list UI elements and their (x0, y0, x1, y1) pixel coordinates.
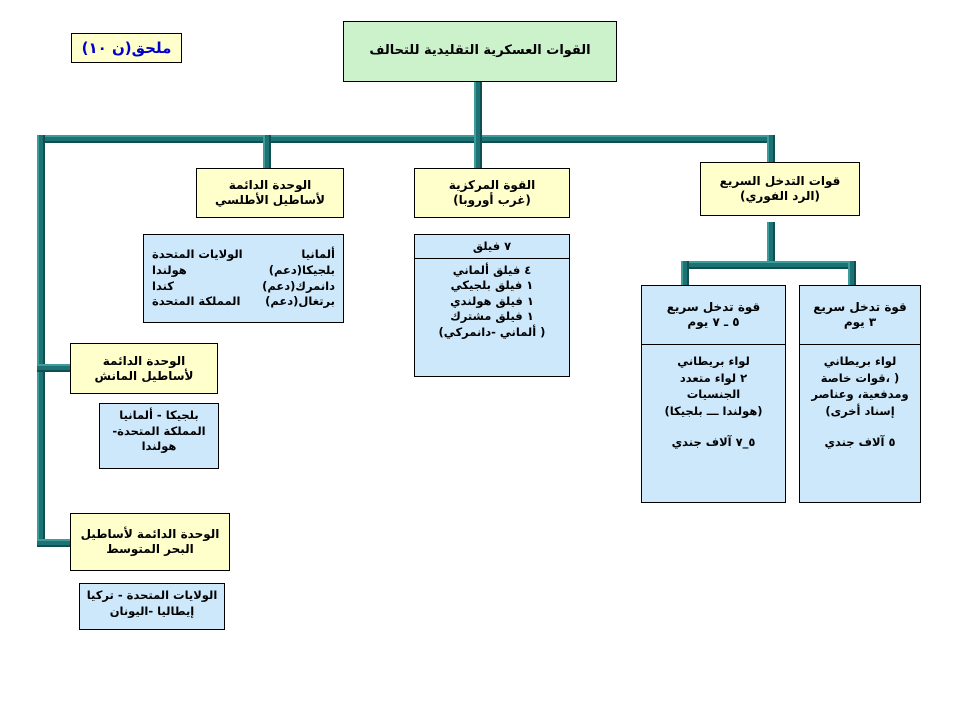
root-node-label: القوات العسكرية التقليدية للتحالف (363, 43, 596, 59)
corps-item: ١ فيلق هولندي (421, 294, 563, 310)
roster-row: ألمانيا الولايات المتحدة (150, 247, 337, 263)
roster-row: برتغال(دعم) المملكة المتحدة (150, 294, 337, 310)
corps-item: ٤ فيلق ألماني (421, 263, 563, 279)
detail-rapid-unit-5to7days: لواء بريطاني ٢ لواء متعدد الجنسيات (هولن… (641, 345, 786, 503)
node-rapid-intervention: قوات التدخل السريع (الرد الفوري) (700, 162, 860, 216)
node-mediterranean-label: الوحدة الدائمة لأساطيل البحر المتوسط (77, 527, 224, 557)
corps-header: ٧ فيلق (415, 239, 569, 259)
node-rapid-unit-5to7days: قوة تدخل سريع ٥ ـ ٧ يوم (641, 285, 786, 345)
connector-rapid-right-drop (848, 261, 856, 285)
detail-rapid-unit-3days: لواء بريطاني ( ،قوات خاصة ومدفعية، وعناص… (799, 345, 921, 503)
annex-tag-label: ملحق(ن ١٠) (82, 39, 172, 58)
detail-atlantic-members: ألمانيا الولايات المتحدة بلجيكا(دعم) هول… (143, 234, 344, 323)
connector-drop-central (474, 135, 482, 168)
org-chart-canvas: ملحق(ن ١٠) القوات العسكرية التقليدية للت… (0, 0, 959, 719)
detail-mediterranean-members: الولايات المتحدة - تركيا إيطاليا -اليونا… (79, 583, 225, 630)
node-rapid-unit-3days: قوة تدخل سريع ٣ يوم (799, 285, 921, 345)
connector-rapid-split (681, 261, 856, 269)
corps-item: ١ فيلق بلجيكي (421, 278, 563, 294)
node-mediterranean-fleets: الوحدة الدائمة لأساطيل البحر المتوسط (70, 513, 230, 571)
member-line: المملكة المتحدة- (106, 424, 212, 440)
node-atlantic-fleets: الوحدة الدائمة لأساطيل الأطلسي (196, 168, 344, 218)
connector-rapid-left-drop (681, 261, 689, 285)
unit-strength: ٥_٧ آلاف جندي (646, 434, 781, 451)
connector-left-spine (37, 135, 45, 547)
node-channel-label: الوحدة الدائمة لأساطيل المانش (91, 354, 198, 384)
node-central-force: القوة المركزية (غرب أوروبا) (414, 168, 570, 218)
corps-item: ١ فيلق مشترك (421, 309, 563, 325)
corps-item: ( ألماني -دانمركي) (421, 325, 563, 341)
connector-root-stem (474, 82, 482, 139)
node-atlantic-label: الوحدة الدائمة لأساطيل الأطلسي (211, 178, 329, 208)
member-line: الولايات المتحدة - تركيا (86, 588, 218, 604)
member-line: بلجيكا - ألمانيا (106, 408, 212, 424)
connector-drop-atlantic (263, 135, 271, 168)
node-rapid-unit-3days-label: قوة تدخل سريع ٣ يوم (809, 300, 911, 330)
detail-channel-members: بلجيكا - ألمانيا المملكة المتحدة- هولندا (99, 403, 219, 469)
node-rapid-label: قوات التدخل السريع (الرد الفوري) (716, 174, 845, 204)
node-central-label: القوة المركزية (غرب أوروبا) (445, 178, 539, 208)
connector-rapid-stem (767, 222, 775, 264)
roster-row: دانمرك(دعم) كندا (150, 279, 337, 295)
root-node-conventional-forces: القوات العسكرية التقليدية للتحالف (343, 21, 617, 82)
annex-tag-box: ملحق(ن ١٠) (71, 33, 182, 63)
member-line: هولندا (106, 439, 212, 455)
unit-strength: ٥ آلاف جندي (804, 434, 916, 451)
member-line: إيطاليا -اليونان (86, 604, 218, 620)
connector-main-trunk (37, 135, 775, 143)
roster-row: بلجيكا(دعم) هولندا (150, 263, 337, 279)
detail-central-corps: ٧ فيلق ٤ فيلق ألماني ١ فيلق بلجيكي ١ فيل… (414, 234, 570, 377)
node-rapid-unit-5to7days-label: قوة تدخل سريع ٥ ـ ٧ يوم (663, 300, 765, 330)
connector-drop-rapid (767, 135, 775, 162)
node-channel-fleets: الوحدة الدائمة لأساطيل المانش (70, 343, 218, 394)
